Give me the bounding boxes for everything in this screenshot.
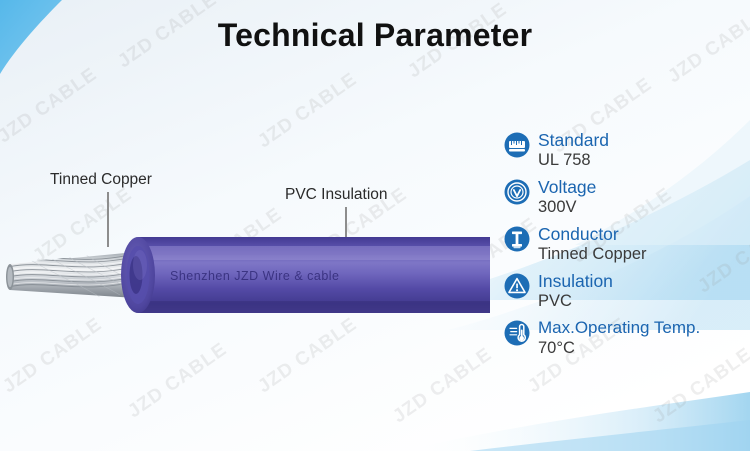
spec-value: 300V xyxy=(538,197,748,218)
spec-row-insulation: Insulation PVC xyxy=(504,271,748,315)
spec-row-voltage: Voltage 300V xyxy=(504,177,748,221)
spec-value: Tinned Copper xyxy=(538,244,748,265)
spec-row-max-operating-temp: Max.Operating Temp. 70°C xyxy=(504,318,748,362)
thermometer-icon xyxy=(504,320,530,346)
specification-list: Standard UL 758 Voltage 300V xyxy=(504,130,748,365)
cable-print-text: Shenzhen JZD Wire & cable xyxy=(170,269,340,283)
spec-row-conductor: Conductor Tinned Copper xyxy=(504,224,748,268)
cable-illustration: Shenzhen JZD Wire & cable xyxy=(0,215,500,330)
callout-label-pvc-insulation: PVC Insulation xyxy=(285,186,388,204)
spec-label: Standard xyxy=(538,130,748,150)
conductor-strands xyxy=(6,251,138,298)
spec-value: UL 758 xyxy=(538,150,748,171)
cable-cut-face xyxy=(121,237,155,313)
ruler-icon xyxy=(504,132,530,158)
technical-parameter-banner: JZD CABLE JZD CABLE JZD CABLE JZD CABLE … xyxy=(0,0,750,451)
watermark-text: JZD CABLE xyxy=(124,339,231,423)
watermark-text: JZD CABLE xyxy=(0,64,101,148)
spec-row-standard: Standard UL 758 xyxy=(504,130,748,174)
voltage-icon xyxy=(504,179,530,205)
spec-label: Conductor xyxy=(538,224,748,244)
watermark-text: JZD CABLE xyxy=(389,344,496,428)
spec-label: Voltage xyxy=(538,177,748,197)
spec-value: 70°C xyxy=(538,338,748,359)
callout-label-tinned-copper: Tinned Copper xyxy=(50,171,152,189)
page-title: Technical Parameter xyxy=(0,17,750,54)
insulation-icon xyxy=(504,273,530,299)
spec-value: PVC xyxy=(538,291,748,312)
spec-label: Insulation xyxy=(538,271,748,291)
watermark-text: JZD CABLE xyxy=(254,69,361,153)
spec-label: Max.Operating Temp. xyxy=(538,318,748,338)
conductor-icon xyxy=(504,226,530,252)
